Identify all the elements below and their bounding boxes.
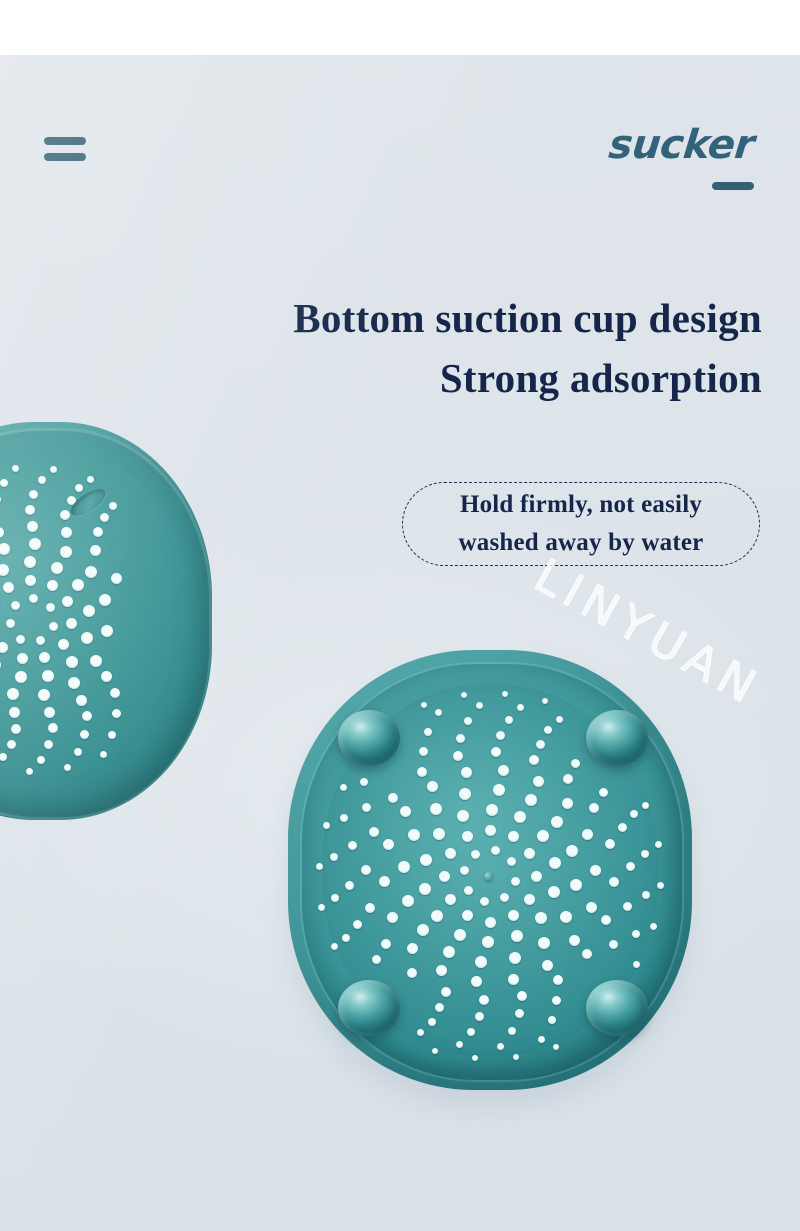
- product-banner: sucker Bottom suction cup design Strong …: [0, 0, 800, 1231]
- suction-cup-bottom-right: [586, 980, 648, 1036]
- brand-logo[interactable]: sucker: [609, 125, 754, 190]
- headline-line-1: Bottom suction cup design: [0, 288, 762, 348]
- brand-name: sucker: [607, 125, 756, 165]
- suction-cup-top-left: [338, 710, 400, 766]
- hamburger-bar-top: [44, 137, 86, 145]
- center-nub: [484, 872, 493, 881]
- page-title: Bottom suction cup design Strong adsorpt…: [0, 288, 762, 408]
- callout-line-2: washed away by water: [459, 524, 704, 562]
- suction-cup-bottom-left: [338, 980, 400, 1036]
- hamburger-icon[interactable]: [44, 137, 86, 167]
- suction-cup-top-right: [586, 710, 648, 766]
- drain-cover-rim-left: [0, 428, 212, 820]
- product-image-top-view: k+t: [0, 422, 212, 820]
- callout-line-1: Hold firmly, not easily: [460, 486, 702, 524]
- brand-underline-icon: [712, 182, 754, 190]
- product-image-bottom-view: [288, 650, 692, 1090]
- top-white-band: [0, 0, 800, 55]
- headline-line-2: Strong adsorption: [0, 348, 762, 408]
- banner-header: sucker: [0, 55, 800, 205]
- hamburger-bar-bottom: [44, 153, 86, 161]
- feature-callout: Hold firmly, not easily washed away by w…: [402, 482, 760, 566]
